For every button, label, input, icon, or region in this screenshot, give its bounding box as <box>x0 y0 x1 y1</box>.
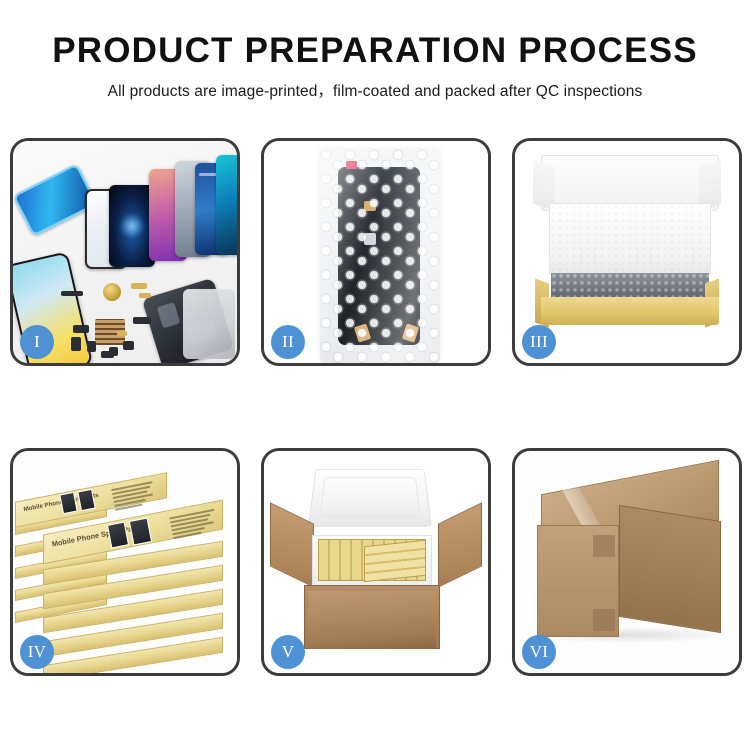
page-title: PRODUCT PREPARATION PROCESS <box>0 30 750 72</box>
carton-right-face-icon <box>619 505 721 633</box>
yellow-carton-front-icon <box>541 297 719 325</box>
bubble-wrap-bag-icon <box>320 149 440 363</box>
teal-gradient-phone-icon <box>216 155 237 255</box>
step-badge-6: VI <box>522 635 556 669</box>
step-badge-4: IV <box>20 635 54 669</box>
process-step-panel-1: I <box>10 138 240 366</box>
step-badge-1: I <box>20 325 54 359</box>
carton-body-icon <box>308 591 436 649</box>
page-subtitle: All products are image-printed，film-coat… <box>0 81 750 103</box>
process-step-panel-5: V <box>261 448 491 676</box>
process-step-panel-4: Mobile Phone Spare Parts Mobile Phone Sp… <box>10 448 240 676</box>
eps-foam-lid-icon <box>308 469 432 527</box>
step-badge-2: II <box>271 325 305 359</box>
product-preparation-infographic: PRODUCT PREPARATION PROCESS All products… <box>0 0 750 750</box>
process-step-panel-3: III <box>512 138 742 366</box>
step-badge-3: III <box>522 325 556 359</box>
white-foam-sheet-icon <box>549 203 711 275</box>
process-step-grid: I II <box>10 138 742 676</box>
header: PRODUCT PREPARATION PROCESS All products… <box>0 30 750 103</box>
process-step-panel-2: II <box>261 138 491 366</box>
repair-tools-icon <box>183 289 235 359</box>
process-step-panel-6: VI <box>512 448 742 676</box>
speaker-coil-icon <box>103 283 121 301</box>
step-badge-5: V <box>271 635 305 669</box>
grey-bubble-packed-item-icon <box>551 273 709 299</box>
